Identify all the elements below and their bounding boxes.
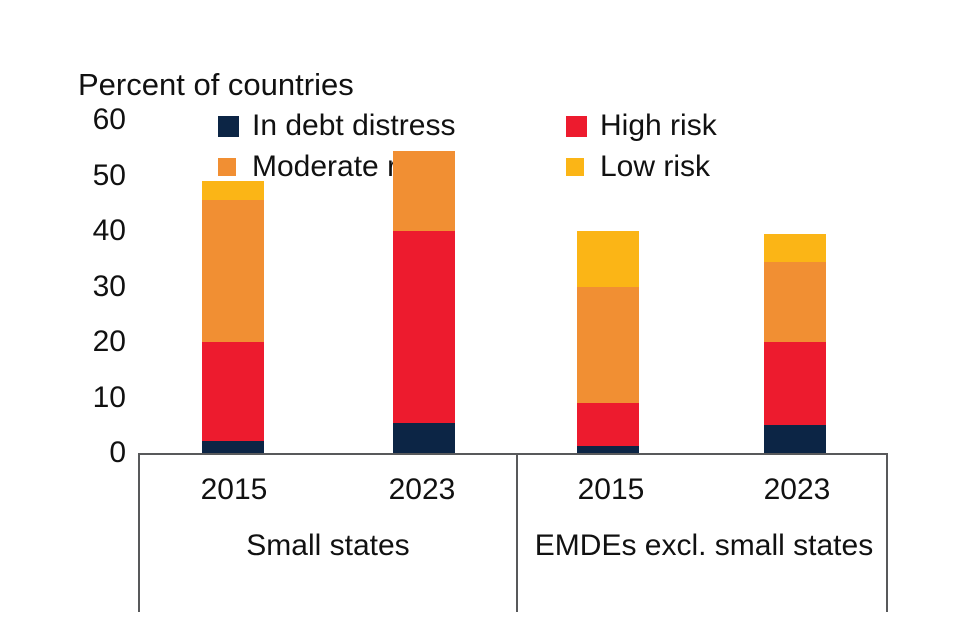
y-tick-label-20: 20	[52, 327, 126, 357]
category-group-emdes: 2015 2023 EMDEs excl. small states	[518, 455, 890, 612]
y-tick-label-60: 60	[52, 105, 126, 135]
bar-segment-in-debt-distress	[393, 423, 455, 453]
category-group-small-states: 2015 2023 Small states	[140, 455, 516, 612]
category-years-small-states: 2015 2023	[140, 473, 516, 507]
y-tick-label-0: 0	[52, 438, 126, 468]
bar-segment-high-risk	[393, 231, 455, 423]
bar-segment-low-risk	[764, 234, 826, 262]
category-years-emdes: 2015 2023	[518, 473, 890, 507]
bar-small-states-2023[interactable]	[393, 151, 455, 453]
y-tick-label-50: 50	[52, 161, 126, 191]
bar-segment-high-risk	[202, 342, 264, 441]
bar-segment-low-risk	[202, 181, 264, 200]
x-tick-label-2015-emdes: 2015	[518, 473, 704, 507]
bar-emdes-2015[interactable]	[577, 231, 639, 453]
bar-segment-moderate-risk	[202, 200, 264, 342]
category-label-small-states: Small states	[140, 527, 516, 565]
x-tick-label-2023-emdes: 2023	[704, 473, 890, 507]
plot-area	[138, 120, 888, 455]
bar-segment-high-risk	[764, 342, 826, 425]
chart-title: Percent of countries	[78, 66, 354, 104]
bar-segment-in-debt-distress	[577, 446, 639, 453]
y-axis: 6050403020100	[52, 140, 126, 480]
stacked-bar-chart: Percent of countries In debt distress Hi…	[0, 0, 960, 640]
y-tick-label-10: 10	[52, 383, 126, 413]
x-tick-label-2023-small-states: 2023	[328, 473, 516, 507]
bar-segment-low-risk	[577, 231, 639, 287]
bar-segment-moderate-risk	[393, 151, 455, 231]
bar-segment-in-debt-distress	[202, 441, 264, 453]
bar-emdes-2023[interactable]	[764, 234, 826, 453]
bar-segment-high-risk	[577, 403, 639, 446]
y-tick-label-40: 40	[52, 216, 126, 246]
category-label-emdes: EMDEs excl. small states	[518, 527, 890, 565]
y-tick-label-30: 30	[52, 272, 126, 302]
category-frame: 2015 2023 Small states 2015 2023 EMDEs e…	[138, 455, 888, 612]
bar-segment-in-debt-distress	[764, 425, 826, 453]
bar-segment-moderate-risk	[577, 287, 639, 404]
bar-small-states-2015[interactable]	[202, 181, 264, 453]
x-tick-label-2015-small-states: 2015	[140, 473, 328, 507]
bar-segment-moderate-risk	[764, 262, 826, 342]
